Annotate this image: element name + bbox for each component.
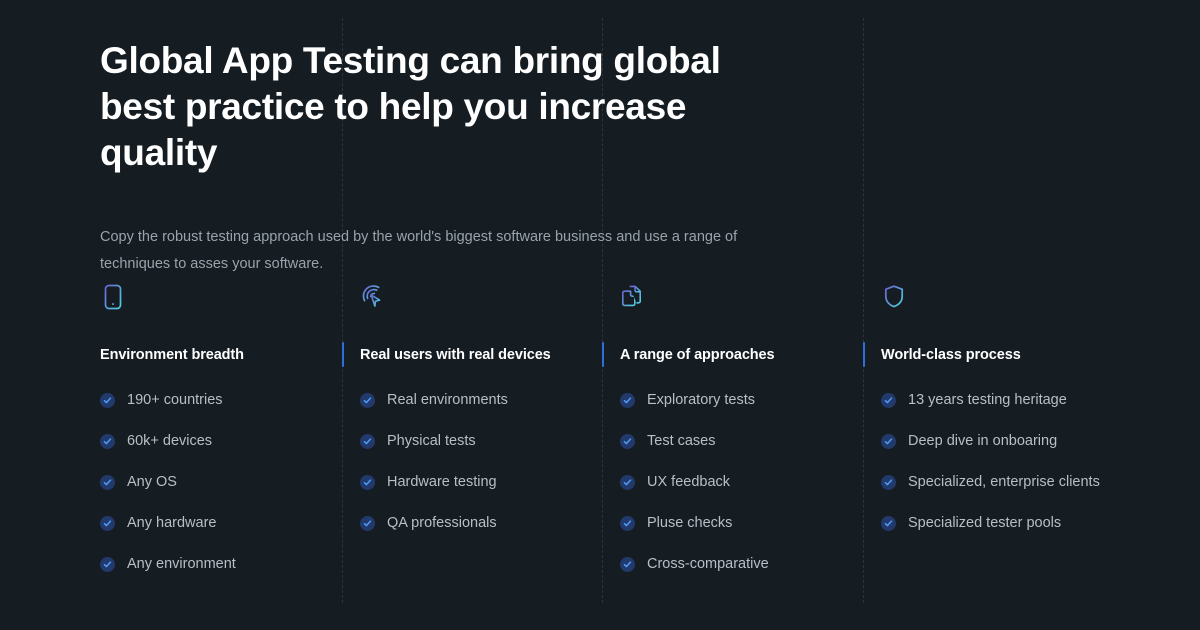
- list-item-label: Exploratory tests: [647, 390, 755, 411]
- copy-documents-icon: [620, 283, 837, 313]
- check-icon: [100, 516, 115, 531]
- list-item: Specialized tester pools: [881, 513, 1160, 534]
- mobile-phone-icon: [100, 283, 312, 313]
- page-subtitle: Copy the robust testing approach used by…: [100, 224, 790, 278]
- check-icon: [100, 434, 115, 449]
- column-heading-row: A range of approaches: [620, 344, 837, 366]
- feature-list: Exploratory tests Test cases UX feedback…: [620, 390, 837, 575]
- list-item-label: Specialized, enterprise clients: [908, 472, 1100, 493]
- check-icon: [360, 516, 375, 531]
- list-item: Exploratory tests: [620, 390, 837, 411]
- feature-column-world-class-process: World-class process 13 years testing her…: [863, 283, 1200, 575]
- list-item: QA professionals: [360, 513, 576, 534]
- check-icon: [620, 557, 635, 572]
- list-item: Hardware testing: [360, 472, 576, 493]
- check-icon: [360, 475, 375, 490]
- column-title: World-class process: [881, 347, 1021, 363]
- list-item: Any environment: [100, 554, 312, 575]
- check-icon: [100, 475, 115, 490]
- list-item-label: 13 years testing heritage: [908, 390, 1067, 411]
- list-item: Specialized, enterprise clients: [881, 472, 1160, 493]
- column-title: Environment breadth: [100, 347, 244, 363]
- column-title: Real users with real devices: [360, 347, 551, 363]
- list-item-label: Any OS: [127, 472, 177, 493]
- list-item-label: Specialized tester pools: [908, 513, 1061, 534]
- list-item-label: Pluse checks: [647, 513, 732, 534]
- column-heading-row: Real users with real devices: [360, 344, 576, 366]
- column-heading-row: Environment breadth: [100, 344, 312, 366]
- feature-list: 13 years testing heritage Deep dive in o…: [881, 390, 1160, 534]
- list-item-label: Physical tests: [387, 431, 476, 452]
- feature-column-environment-breadth: Environment breadth 190+ countries 60k+ …: [0, 283, 342, 575]
- check-icon: [620, 393, 635, 408]
- list-item-label: 190+ countries: [127, 390, 223, 411]
- feature-column-approaches: A range of approaches Exploratory tests …: [602, 283, 863, 575]
- column-title: A range of approaches: [620, 347, 774, 363]
- list-item-label: Any hardware: [127, 513, 216, 534]
- check-icon: [620, 434, 635, 449]
- accent-bar: [342, 342, 344, 367]
- list-item: Cross-comparative: [620, 554, 837, 575]
- feature-column-real-users: Real users with real devices Real enviro…: [342, 283, 602, 575]
- check-icon: [881, 434, 896, 449]
- check-icon: [360, 393, 375, 408]
- list-item-label: 60k+ devices: [127, 431, 212, 452]
- list-item: 13 years testing heritage: [881, 390, 1160, 411]
- list-item: 60k+ devices: [100, 431, 312, 452]
- list-item-label: Real environments: [387, 390, 508, 411]
- list-item-label: QA professionals: [387, 513, 497, 534]
- list-item-label: Any environment: [127, 554, 236, 575]
- list-item: Pluse checks: [620, 513, 837, 534]
- accent-bar: [602, 342, 604, 367]
- accent-bar: [863, 342, 865, 367]
- list-item: Deep dive in onboaring: [881, 431, 1160, 452]
- check-icon: [620, 475, 635, 490]
- check-icon: [881, 516, 896, 531]
- column-heading-row: World-class process: [881, 344, 1160, 366]
- list-item-label: Cross-comparative: [647, 554, 769, 575]
- shield-icon: [881, 283, 1160, 313]
- list-item: 190+ countries: [100, 390, 312, 411]
- list-item-label: Test cases: [647, 431, 716, 452]
- feature-list: Real environments Physical tests Hardwar…: [360, 390, 576, 534]
- tap-cursor-icon: [360, 283, 576, 313]
- list-item: UX feedback: [620, 472, 837, 493]
- list-item: Test cases: [620, 431, 837, 452]
- list-item: Any hardware: [100, 513, 312, 534]
- check-icon: [100, 393, 115, 408]
- check-icon: [100, 557, 115, 572]
- hero-text-block: Global App Testing can bring global best…: [0, 38, 1200, 278]
- feature-columns: Environment breadth 190+ countries 60k+ …: [0, 283, 1200, 575]
- check-icon: [881, 393, 896, 408]
- list-item: Physical tests: [360, 431, 576, 452]
- check-icon: [620, 516, 635, 531]
- list-item-label: Hardware testing: [387, 472, 497, 493]
- list-item-label: Deep dive in onboaring: [908, 431, 1057, 452]
- feature-section: Global App Testing can bring global best…: [0, 0, 1200, 630]
- check-icon: [360, 434, 375, 449]
- list-item-label: UX feedback: [647, 472, 730, 493]
- feature-list: 190+ countries 60k+ devices Any OS Any h…: [100, 390, 312, 575]
- page-title: Global App Testing can bring global best…: [100, 38, 790, 176]
- list-item: Any OS: [100, 472, 312, 493]
- list-item: Real environments: [360, 390, 576, 411]
- check-icon: [881, 475, 896, 490]
